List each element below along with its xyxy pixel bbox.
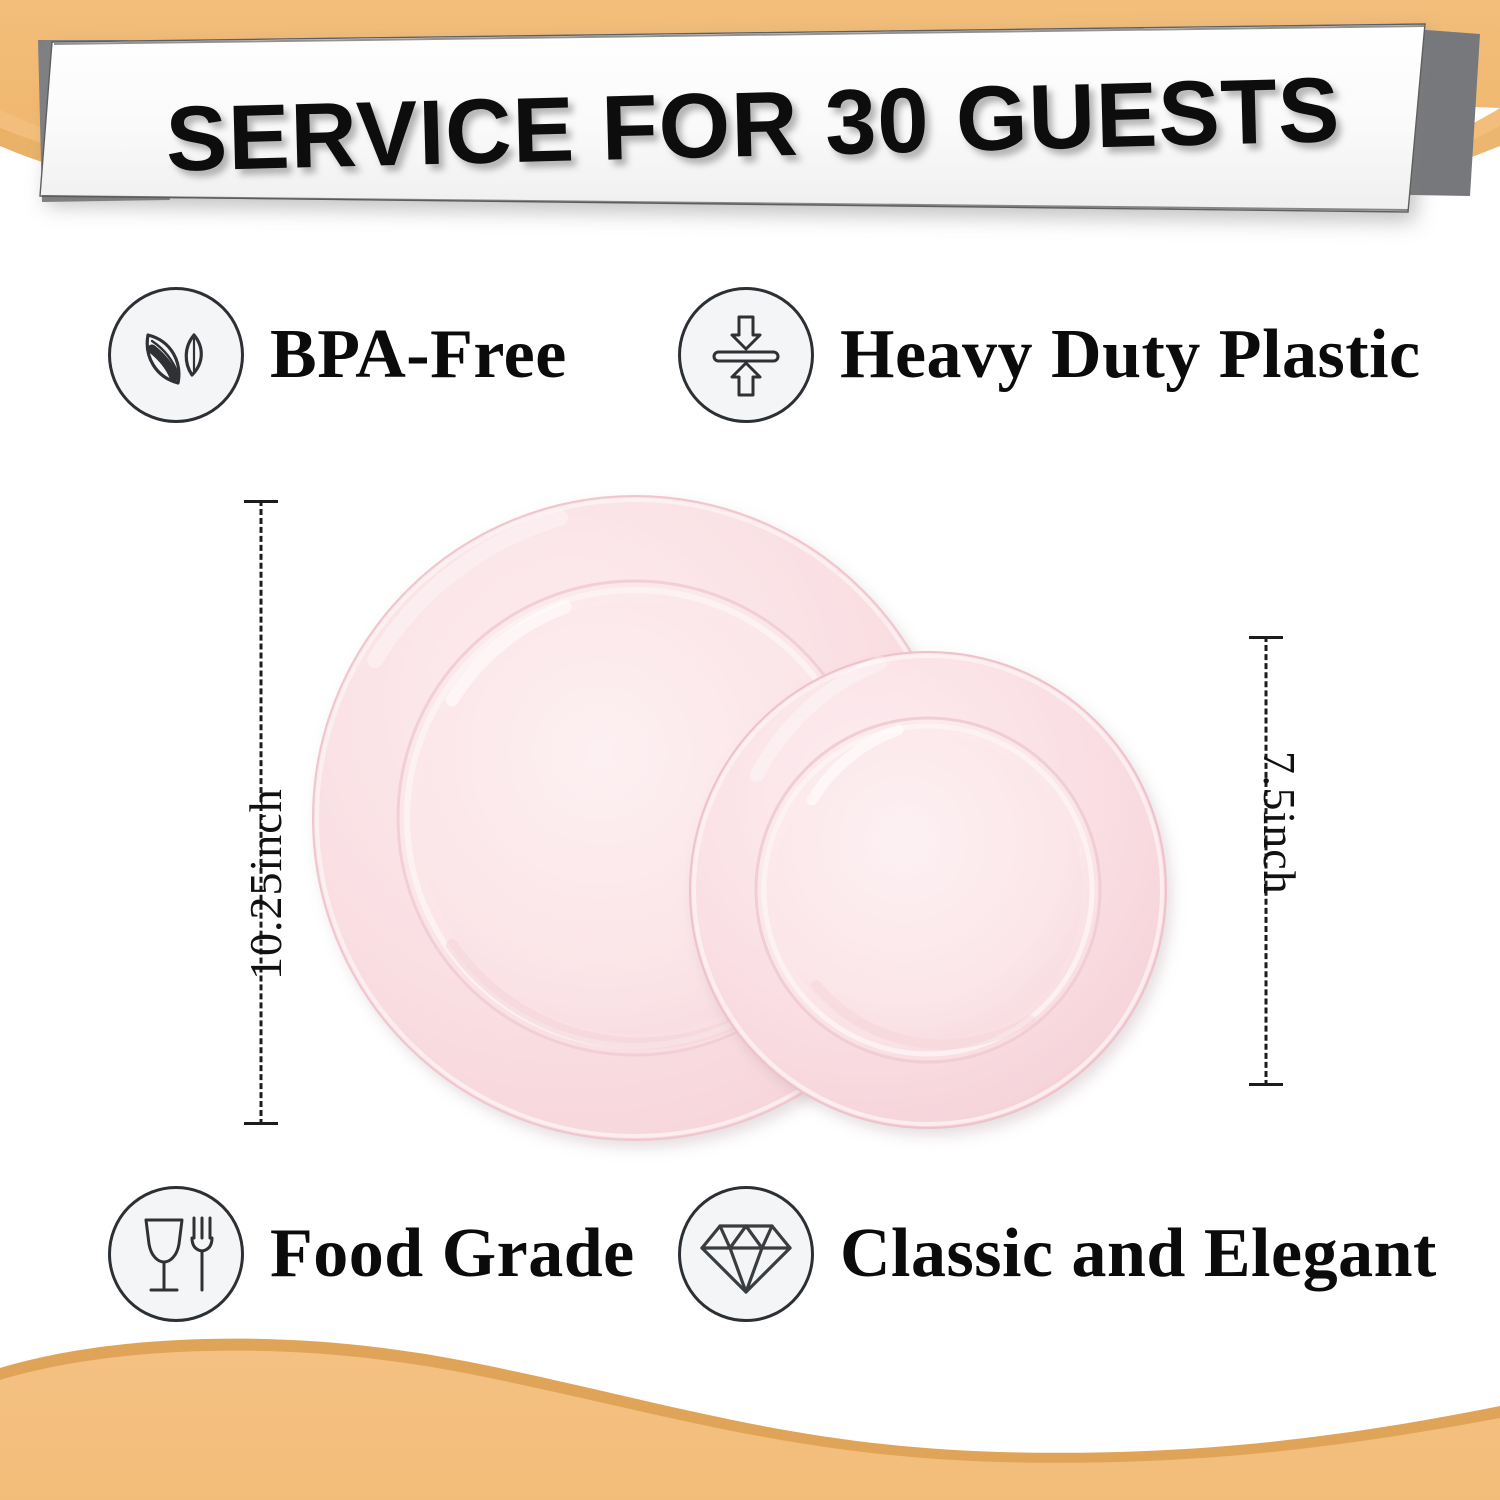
dimension-label-small: 7.5inch [1253,751,1306,895]
feature-heavy-duty-plastic: Heavy Duty Plastic [678,287,1421,423]
bottom-orange-wave [0,1310,1500,1500]
diamond-icon [678,1186,814,1322]
glass-and-fork-icon [108,1186,244,1322]
dimension-cap-bottom [1249,1083,1283,1086]
feature-label: Food Grade [270,1219,635,1289]
feature-bpa-free: BPA-Free [108,287,567,423]
feature-label: Heavy Duty Plastic [840,320,1421,390]
salad-plate-small [690,652,1166,1128]
feature-food-grade: Food Grade [108,1186,635,1322]
feature-classic-elegant: Classic and Elegant [678,1186,1437,1322]
dimension-label-large: 10.25inch [239,788,292,980]
leaf-icon [108,287,244,423]
compression-icon [678,287,814,423]
feature-label: BPA-Free [270,320,567,390]
dimension-large-plate: 10.25inch [243,500,279,1125]
banner-headline-text: SERVICE FOR 30 GUESTS [0,0,1500,269]
dimension-small-plate: 7.5inch [1248,636,1284,1086]
dinner-plate-large [313,496,957,1140]
infographic-canvas: SERVICE FOR 30 GUESTS BPA-Free [0,0,1500,1500]
dimension-cap-bottom [244,1122,278,1125]
feature-label: Classic and Elegant [840,1219,1437,1289]
